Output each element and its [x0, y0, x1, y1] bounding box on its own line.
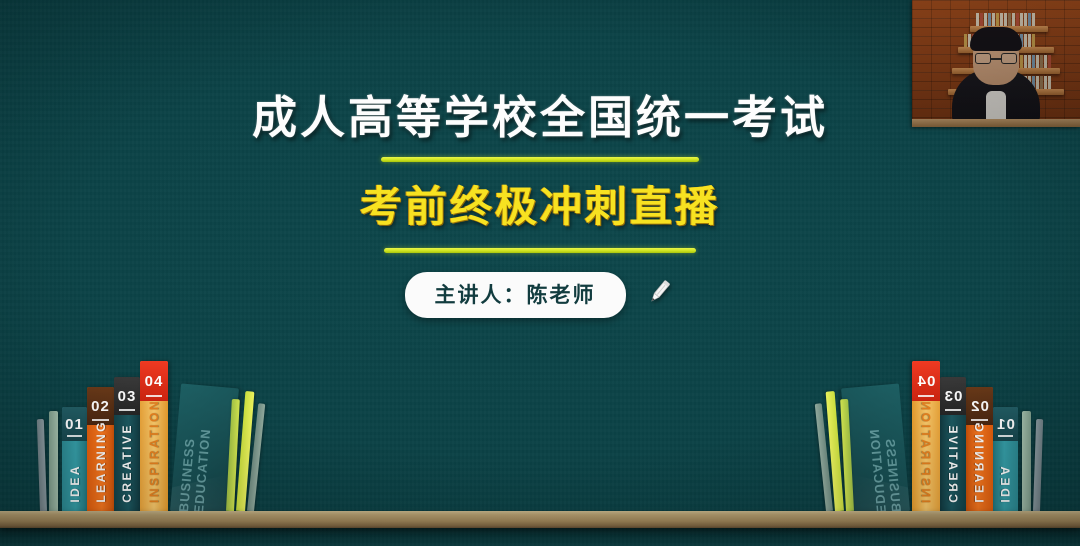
book-01: 01 IDEA	[993, 407, 1018, 511]
book-number: 01	[62, 407, 87, 441]
book-stack-left: 01 IDEA 02 LEARNING 03 CREATIVE 04	[40, 361, 256, 511]
book-label: CREATIVE	[940, 429, 966, 503]
slide-stage: 成人高等学校全国统一考试 考前终极冲刺直播 主讲人：陈老师 01	[0, 0, 1080, 546]
book-number: 04	[912, 361, 940, 401]
book-stack-right: 01 IDEA 02 LEARNING 03 CREATIVE 04	[824, 361, 1040, 511]
book-04: 04 INSPIRATION	[140, 361, 168, 511]
book-label: INSPIRATION	[912, 413, 940, 503]
page-subtitle: 考前终极冲刺直播	[0, 173, 1080, 234]
shelf-shadow	[0, 528, 1080, 546]
thin-spine	[37, 419, 47, 511]
book-03: 03 CREATIVE	[114, 377, 140, 511]
back-board-wrap: BUSINESS EDUCATION	[170, 379, 232, 511]
instructor-figure	[952, 29, 1040, 121]
pen-cursor-icon[interactable]	[642, 275, 676, 309]
back-board-text: BUSINESS EDUCATION	[864, 398, 904, 514]
book-03: 03 CREATIVE	[940, 377, 966, 511]
thin-spine	[1033, 419, 1043, 511]
book-number: 03	[940, 377, 966, 415]
webcam-bottom-edge	[912, 119, 1080, 127]
back-board-text: BUSINESS EDUCATION	[176, 398, 216, 514]
book-label: CREATIVE	[114, 429, 140, 503]
instructor-webcam[interactable]	[912, 0, 1080, 127]
book-number: 03	[114, 377, 140, 415]
book-label: IDEA	[993, 459, 1018, 503]
title-divider-lower	[384, 248, 696, 253]
book-label: LEARNING	[966, 439, 993, 503]
book-label: INSPIRATION	[140, 413, 168, 503]
thin-spine	[49, 411, 58, 511]
instructor-hair	[970, 27, 1022, 51]
glasses-icon	[975, 53, 1017, 64]
speaker-badge: 主讲人：陈老师	[405, 272, 626, 318]
book-label: IDEA	[62, 459, 87, 503]
shelf-bar	[0, 511, 1080, 528]
book-number: 01	[993, 407, 1018, 441]
back-board-wrap: BUSINESS EDUCATION	[848, 379, 910, 511]
wall-shelf-books	[976, 13, 1036, 26]
book-label: LEARNING	[87, 439, 114, 503]
book-01: 01 IDEA	[62, 407, 87, 511]
instructor-collar	[986, 91, 1006, 121]
book-04: 04 INSPIRATION	[912, 361, 940, 511]
thin-spine	[1022, 411, 1031, 511]
title-divider-upper	[381, 157, 699, 162]
book-02: 02 LEARNING	[87, 387, 114, 511]
speaker-row: 主讲人：陈老师	[0, 272, 1080, 318]
book-02: 02 LEARNING	[966, 387, 993, 511]
book-number: 04	[140, 361, 168, 401]
